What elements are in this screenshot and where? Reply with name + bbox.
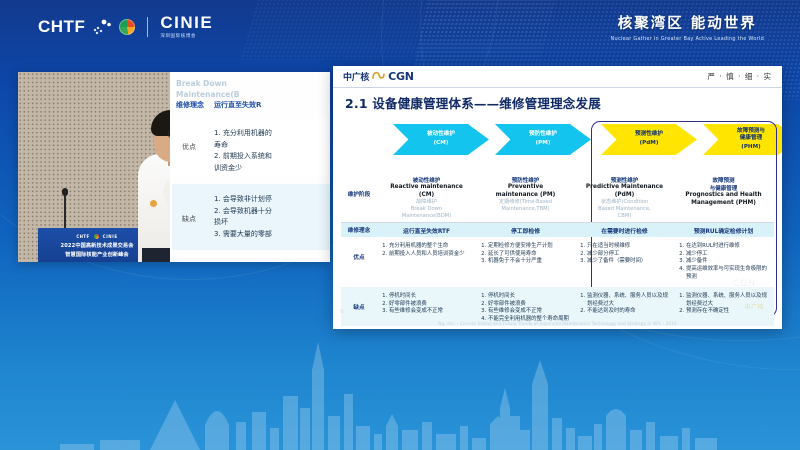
concept-cell: 在需要时进行检修 — [575, 223, 674, 237]
list-item: 有些维修会变成不正常 — [389, 308, 473, 316]
maintenance-evolution-chevrons: 被动性维护 (CM) 预防性维护 (PM) 预测性维护 (PdM) 故障预测与 … — [333, 124, 782, 158]
presentation-stage: CHTF CINIE 深圳国际核博会 — [0, 0, 800, 450]
table-header-cell: 预测性维护 Predictive Maintenance (PdM) 状态维护(… — [575, 174, 674, 222]
cgn-logo-english: CGN — [388, 70, 414, 83]
pros-cell: 只在适当时候维修 减少部分停工 减少了备件（需要时间） — [575, 241, 674, 268]
projected-faded-line-2: Maintenance(B — [176, 89, 326, 100]
projected-header-label: 维修理念 — [176, 100, 204, 110]
event-banner: CHTF CINIE 深圳国际核博会 — [0, 0, 800, 56]
chevron-phm[interactable]: 故障预测与 健康管理 (PHM) — [703, 124, 782, 155]
cgn-logo-chinese: 中广核 — [343, 70, 369, 83]
chevron-label-cn-line2: 健康管理 — [740, 135, 762, 143]
chevron-label-cn: 预防性维护 — [529, 131, 557, 139]
cons-cell: 监测仪器、系统、服务人员以及规划经费过大 不能达到及时的寿命 — [575, 291, 674, 318]
logo-divider — [147, 17, 148, 37]
pros-cell: 在达到RUL时进行维修 减少停工 减少备件 提高运维效率与可实现生命极限的预测 — [674, 241, 773, 283]
table-header-cell: 被动性维护 Reactive maintenance (CM) 故障维护 Bre… — [377, 174, 476, 222]
header-cn: 被动性维护 — [380, 176, 473, 184]
cons-list: 监测仪器、系统、服务人员以及规划经费过大 不能达到及时的寿命 — [587, 293, 671, 316]
cinie-globe-icon — [119, 19, 135, 35]
pros-list: 定期检修方便安排生产计划 延长了可供使用寿命 机器免于不会十分严重 — [488, 243, 572, 266]
list-item: 1. 充分利用机器的 — [214, 128, 272, 140]
cons-cell: 停机时间长 好零部件被浪费 有些维修会变成不正常 — [377, 291, 476, 318]
event-slogan-group: 核聚湾区 能动世界 Nuclear Gather in Greater Bay … — [611, 12, 764, 42]
list-item: 机器免于不会十分严重 — [488, 258, 572, 266]
chtf-logo-text: CHTF — [38, 17, 85, 37]
pros-list: 充分利用机器的整个生命 前期投入人员和人员培训资金少 — [389, 243, 473, 258]
list-item: 前期投入人员和人员培训资金少 — [389, 251, 473, 259]
event-logo-group: CHTF CINIE 深圳国际核博会 — [38, 14, 213, 39]
header-en: Prognostics and Health — [677, 192, 770, 200]
table-cons-row: 缺点 停机时间长 好零部件被浪费 有些维修会变成不正常 停机时间长 好零部件被浪… — [341, 287, 774, 325]
concept-cell: 停工即检修 — [476, 223, 575, 237]
cinie-logo-subtitle: 深圳国际核博会 — [160, 33, 213, 39]
pros-cell: 充分利用机器的整个生命 前期投入人员和人员培训资金少 — [377, 241, 476, 260]
event-slogan-english: Nuclear Gather in Greater Bay Active Lea… — [611, 36, 764, 42]
projected-faded-line-1: Break Down — [176, 78, 326, 89]
list-item: 充分利用机器的整个生命 — [389, 243, 473, 251]
header-en-2: Management (PHM) — [677, 200, 770, 208]
header-en: Predictive Maintenance — [578, 184, 671, 192]
header-sub-3: CBM) — [578, 213, 671, 220]
list-item: 定期检修方便安排生产计划 — [488, 243, 572, 251]
chevron-label-en: (PdM) — [640, 140, 659, 148]
chtf-sparkle-icon — [92, 18, 112, 36]
chevron-label-en: (PHM) — [741, 144, 760, 152]
slide-watermark-grey: CGN — [733, 279, 756, 289]
slide-watermark-gold: 中广核 — [744, 302, 764, 311]
slide-source-note: Ng, etc. - Current Status and Future Tre… — [333, 321, 782, 326]
list-item: 停机时间长 — [488, 293, 572, 301]
podium-globe-icon — [94, 234, 99, 239]
projected-pros-list: 1. 充分利用机器的 寿命 2. 前期投入系统和 训资金少 — [214, 128, 272, 174]
speaker-video-panel[interactable]: CHTF CINIE 2022中国高新技术成果交易会 智慧国际核能产业创新峰会 … — [18, 72, 330, 262]
header-cn-2: 与健康管理 — [677, 184, 770, 192]
chevron-label-en: (PM) — [536, 140, 551, 148]
concept-cell: 预测RUL确定检修计划 — [674, 223, 773, 237]
slide-title: 2.1 设备健康管理体系——维修管理理念发展 — [333, 88, 782, 112]
list-item: 只在适当时候维修 — [587, 243, 671, 251]
list-item: 在达到RUL时进行维修 — [686, 243, 770, 251]
list-item: 寿命 — [214, 140, 272, 152]
header-sub-1: 状态维护(Condition — [578, 199, 671, 206]
list-item: 损坏 — [214, 217, 272, 229]
cinie-logo-text: CINIE — [160, 14, 213, 31]
concept-cell: 运行直至失效RTF — [377, 223, 476, 237]
header-sub-3: Maintenance(BDM) — [380, 213, 473, 220]
header-sub-1: 故障维护 — [380, 199, 473, 206]
podium-chtf-text: CHTF — [76, 234, 89, 239]
row-label-cons: 缺点 — [341, 291, 377, 313]
header-en: Preventive — [479, 184, 572, 192]
row-label-concept: 维修理念 — [341, 223, 377, 236]
chevron-preventive-maintenance[interactable]: 预防性维护 (PM) — [495, 124, 591, 155]
list-item: 减少备件 — [686, 258, 770, 266]
list-item: 减少了备件（需要时间） — [587, 258, 671, 266]
cgn-logo: 中广核 CGN — [343, 70, 414, 84]
list-item: 训资金少 — [214, 163, 272, 175]
chevron-label-en: (CM) — [434, 140, 449, 148]
list-item: 2. 前期投入系统和 — [214, 151, 272, 163]
list-item: 停机时间长 — [389, 293, 473, 301]
list-item: 1. 会导致非计划停 — [214, 194, 272, 206]
table-pros-row: 优点 充分利用机器的整个生命 前期投入人员和人员培训资金少 定期检修方便安排生产… — [341, 237, 774, 283]
cinie-logo-block: CINIE 深圳国际核博会 — [160, 14, 213, 39]
cgn-swirl-icon — [371, 70, 386, 84]
row-label-pros: 优点 — [341, 241, 377, 263]
table-header-cell: 故障预测 与健康管理 Prognostics and Health Manage… — [674, 174, 773, 209]
chevron-reactive-maintenance[interactable]: 被动性维护 (CM) — [393, 124, 489, 155]
projected-pros-label: 优点 — [182, 142, 196, 152]
presenter-badge-icon — [150, 200, 157, 207]
list-item: 不能达到及时的寿命 — [587, 308, 671, 316]
header-sub-2: Based Maintenance, — [578, 206, 671, 213]
event-slogan-chinese: 核聚湾区 能动世界 — [611, 12, 764, 33]
table-header-cell: 预防性维护 Preventive maintenance (PM) 定期维修(T… — [476, 174, 575, 215]
chevron-label-cn: 被动性维护 — [427, 131, 455, 139]
projected-screen: Break Down Maintenance(B 维修理念 运行直至失效R 优点… — [170, 72, 330, 262]
table-concept-row: 维修理念 运行直至失效RTF 停工即检修 在需要时进行检修 预测RUL确定检修计… — [341, 223, 774, 237]
projected-faded-header: Break Down Maintenance(B — [176, 78, 326, 100]
podium-cinie-text: CINIE — [103, 234, 118, 239]
cgn-motto: 严 · 慎 · 细 · 实 — [708, 71, 772, 82]
header-sub-2: Break Down — [380, 206, 473, 213]
slide-panel[interactable]: 中广核 CGN 严 · 慎 · 细 · 实 2.1 设备健康管理体系——维修管理… — [333, 66, 782, 329]
header-cn: 预防性维护 — [479, 176, 572, 184]
slide-page-number: 9 — [340, 309, 344, 315]
table-header-row: 维护阶段 被动性维护 Reactive maintenance (CM) 故障维… — [341, 174, 774, 222]
projected-header-row: 维修理念 运行直至失效R — [176, 100, 328, 110]
list-item: 提高运维效率与可实现生命极限的预测 — [686, 266, 770, 281]
header-cn: 预测性维护 — [578, 176, 671, 184]
projected-cons-label: 缺点 — [182, 214, 196, 224]
list-item: 有些维修会变成不正常 — [488, 308, 572, 316]
list-item: 监测仪器、系统、服务人员以及规划经费过大 — [587, 293, 671, 308]
cons-list: 停机时间长 好零部件被浪费 有些维修会变成不正常 — [389, 293, 473, 316]
header-cn: 故障预测 — [677, 176, 770, 184]
projected-header-value: 运行直至失效R — [214, 100, 261, 110]
pros-list: 在达到RUL时进行维修 减少停工 减少备件 提高运维效率与可实现生命极限的预测 — [686, 243, 770, 281]
chevron-label-cn: 预测性维护 — [635, 131, 663, 139]
header-sub-2: Maintenance,TBM) — [479, 206, 572, 213]
projected-cons-list: 1. 会导致非计划停 2. 会导致机器十分 损坏 3. 需要大量的零部 — [214, 194, 272, 240]
slide-header: 中广核 CGN 严 · 慎 · 细 · 实 — [333, 66, 782, 88]
row-label-stage: 维护阶段 — [341, 174, 377, 200]
list-item: 2. 会导致机器十分 — [214, 206, 272, 218]
cons-list: 停机时间长 好零部件被浪费 有些维修会变成不正常 不能完全利用机器的整个寿命周期 — [488, 293, 572, 323]
list-item: 3. 需要大量的零部 — [214, 229, 272, 241]
pros-list: 只在适当时候维修 减少部分停工 减少了备件（需要时间） — [587, 243, 671, 266]
header-en: Reactive maintenance — [380, 184, 473, 192]
maintenance-comparison-table: 维护阶段 被动性维护 Reactive maintenance (CM) 故障维… — [341, 174, 774, 326]
pros-cell: 定期检修方便安排生产计划 延长了可供使用寿命 机器免于不会十分严重 — [476, 241, 575, 268]
chevron-predictive-maintenance[interactable]: 预测性维护 (PdM) — [601, 124, 697, 155]
header-sub-1: 定期维修(Time-Based — [479, 199, 572, 206]
